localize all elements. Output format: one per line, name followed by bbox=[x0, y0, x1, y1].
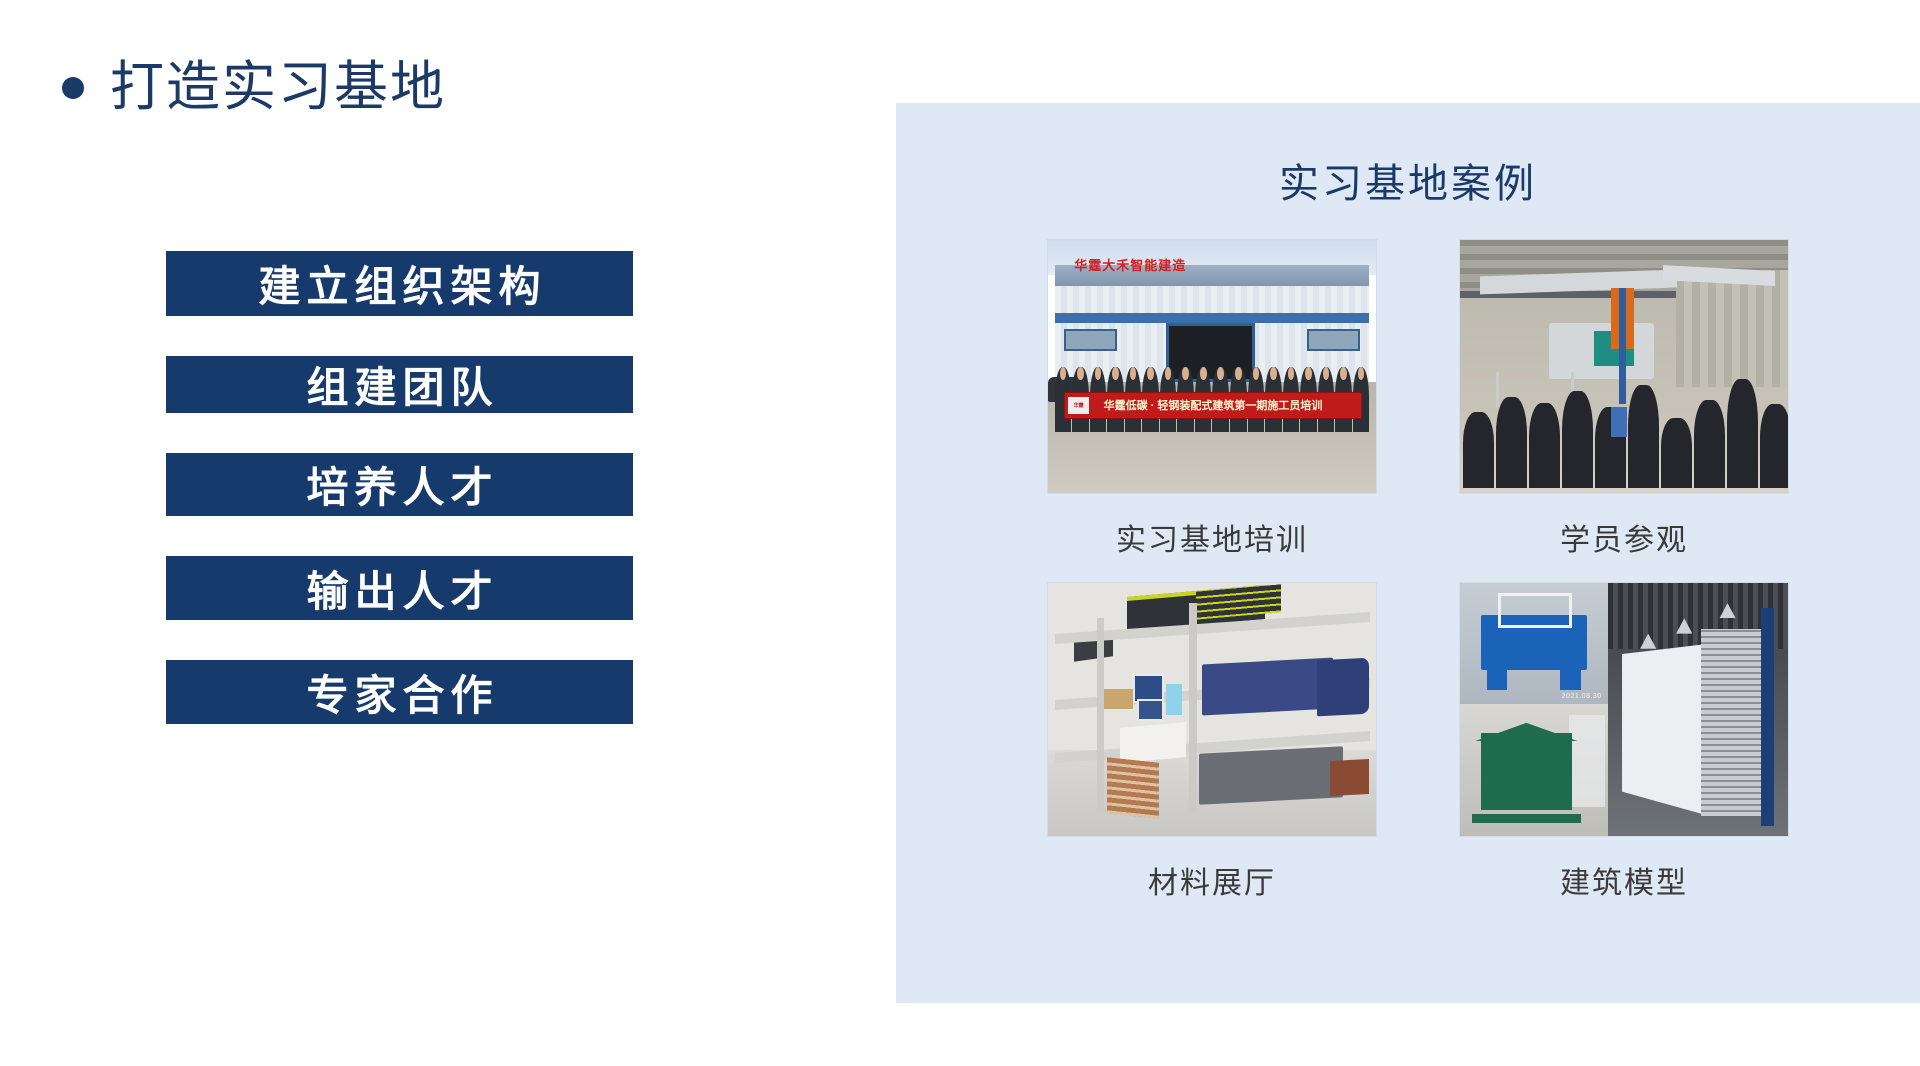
bullet-dot-icon bbox=[62, 77, 84, 99]
training-banner-text: 华霆 华霆低碳 · 轻钢装配式建筑第一期施工员培训 bbox=[1064, 392, 1361, 419]
process-step-2-label: 组建团队 bbox=[300, 354, 498, 415]
process-step-4[interactable]: 输出人才 bbox=[166, 556, 633, 620]
case-photo-caption-2: 学员参观 bbox=[1560, 515, 1688, 559]
case-photo-grid: 华霆大禾智能建造 bbox=[1048, 240, 1788, 902]
banner-logo-tag: 华霆 bbox=[1068, 397, 1089, 413]
case-photo-item-2: 学员参观 bbox=[1460, 240, 1788, 559]
process-step-3-label: 培养人才 bbox=[300, 454, 498, 515]
photo-building-models-image: 2021.08.30 bbox=[1460, 583, 1788, 836]
case-photo-caption-1: 实习基地培训 bbox=[1116, 515, 1308, 559]
factory-sign-text: 华霆大禾智能建造 bbox=[1074, 250, 1350, 278]
process-step-4-label: 输出人才 bbox=[300, 558, 498, 619]
case-photo-caption-3: 材料展厅 bbox=[1148, 858, 1276, 902]
photo-material-showroom[interactable] bbox=[1048, 583, 1376, 836]
photo-date-stamp: 2021.08.30 bbox=[1562, 693, 1602, 700]
process-step-1-label: 建立组织架构 bbox=[252, 253, 546, 314]
banner-main-text: 华霆低碳 · 轻钢装配式建筑第一期施工员培训 bbox=[1104, 397, 1323, 413]
process-step-2[interactable]: 组建团队 bbox=[166, 356, 633, 413]
process-step-1[interactable]: 建立组织架构 bbox=[166, 251, 633, 316]
case-photo-caption-4: 建筑模型 bbox=[1560, 858, 1688, 902]
spacer bbox=[166, 620, 633, 660]
photo-workshop-visit-image bbox=[1460, 240, 1788, 493]
case-photo-item-4: 2021.08.30 建筑模型 bbox=[1460, 583, 1788, 902]
photo-training-group[interactable]: 华霆大禾智能建造 bbox=[1048, 240, 1376, 493]
process-step-5-label: 专家合作 bbox=[300, 662, 498, 723]
process-step-3[interactable]: 培养人才 bbox=[166, 453, 633, 516]
spacer bbox=[166, 316, 633, 356]
page-title: 打造实习基地 bbox=[62, 58, 446, 117]
photo-workshop-visit[interactable] bbox=[1460, 240, 1788, 493]
photo-training-group-image: 华霆大禾智能建造 bbox=[1048, 240, 1376, 493]
case-panel: 实习基地案例 华霆大禾智能建造 bbox=[896, 103, 1920, 1003]
page-title-text: 打造实习基地 bbox=[110, 58, 446, 117]
process-step-list: 建立组织架构 组建团队 培养人才 输出人才 专家合作 bbox=[166, 251, 633, 724]
spacer bbox=[166, 516, 633, 556]
photo-material-showroom-image bbox=[1048, 583, 1376, 836]
process-step-5[interactable]: 专家合作 bbox=[166, 660, 633, 724]
case-photo-item-3: 材料展厅 bbox=[1048, 583, 1376, 902]
spacer bbox=[166, 413, 633, 453]
photo-building-models[interactable]: 2021.08.30 bbox=[1460, 583, 1788, 836]
case-photo-item-1: 华霆大禾智能建造 bbox=[1048, 240, 1376, 559]
case-panel-title: 实习基地案例 bbox=[896, 151, 1920, 209]
